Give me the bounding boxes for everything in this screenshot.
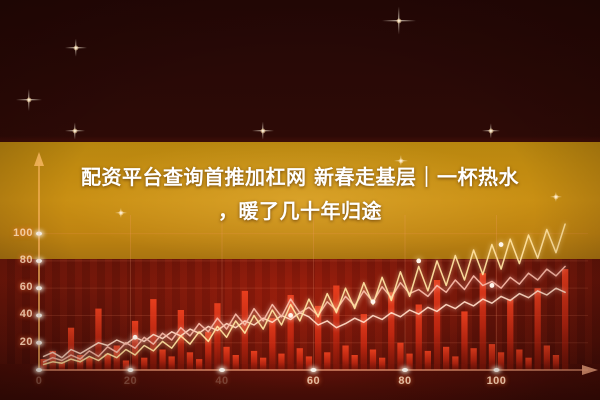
title-line-1: 配资平台查询首推加杠网 新春走基层｜一杯热水 <box>0 160 600 194</box>
page-title: 配资平台查询首推加杠网 新春走基层｜一杯热水 ，暖了几十年归途 <box>0 160 600 228</box>
banner-image: 配资平台查询首推加杠网 新春走基层｜一杯热水 ，暖了几十年归途 20406080… <box>0 0 600 400</box>
title-line-2: ，暖了几十年归途 <box>0 194 600 228</box>
